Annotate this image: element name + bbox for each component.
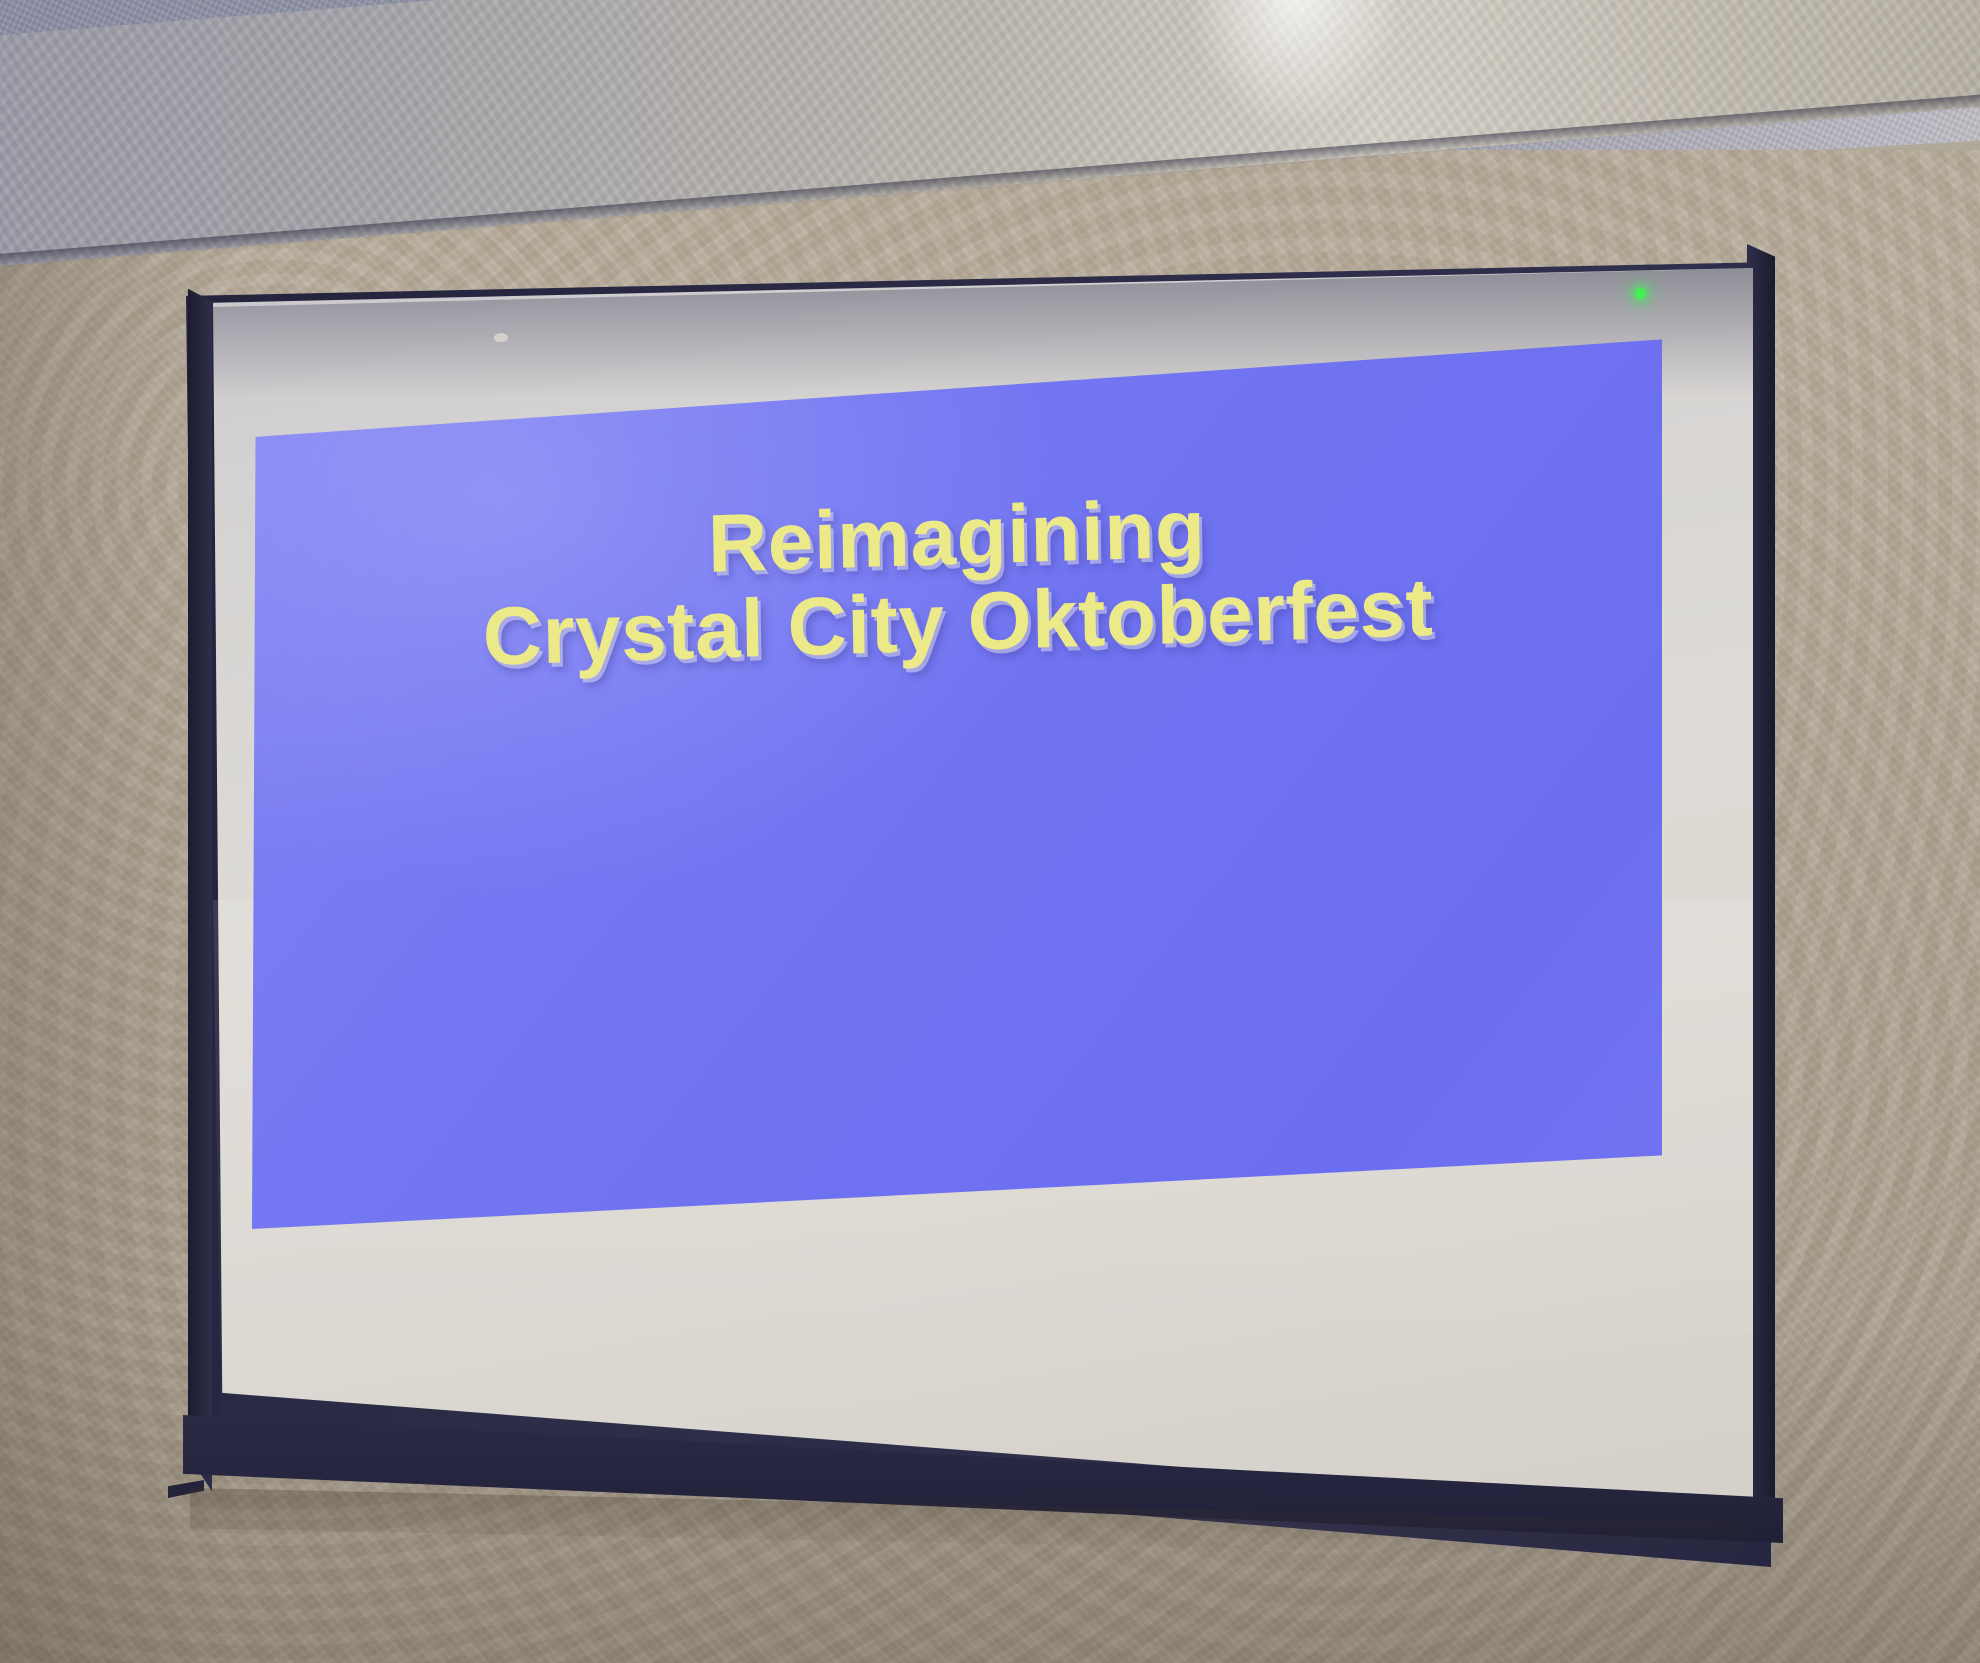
screen-mount-bracket: [494, 333, 508, 342]
screen-rail-left: [188, 264, 212, 1504]
projected-slide: Reimagining Crystal City Oktoberfest: [252, 332, 1662, 1252]
power-indicator-led: [1635, 288, 1646, 299]
projection-screen-photo: Reimagining Crystal City Oktoberfest: [0, 0, 1980, 1663]
slide-content: Reimagining Crystal City Oktoberfest: [252, 332, 1662, 1252]
slide-title: Reimagining Crystal City Oktoberfest: [480, 479, 1433, 681]
